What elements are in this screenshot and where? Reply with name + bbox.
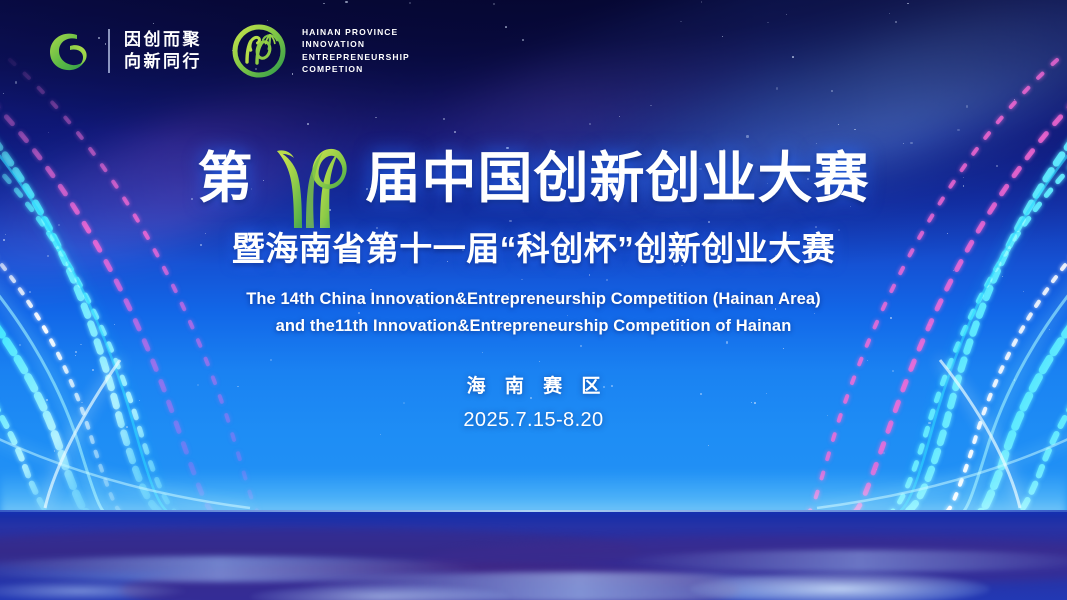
- main-title: 第: [0, 140, 1067, 216]
- competition-poster: 因创而聚 向新同行: [0, 0, 1067, 600]
- c-swoosh-logo-icon: [44, 26, 94, 76]
- region-info: 海 南 赛 区 2025.7.15-8.20: [0, 371, 1067, 432]
- sub-title-english: The 14th China Innovation&Entrepreneursh…: [0, 286, 1067, 339]
- region-date: 2025.7.15-8.20: [0, 409, 1067, 432]
- main-title-suffix: 届中国创新创业大赛: [366, 151, 870, 206]
- title-block: 第: [0, 140, 1067, 339]
- sub-title-chinese: 暨海南省第十一届“科创杯”创新创业大赛: [0, 222, 1067, 270]
- ocean-waves: [0, 510, 1067, 600]
- slogan-line-1: 因创而聚: [124, 31, 202, 49]
- org-line-4: COMPETION: [302, 64, 410, 75]
- main-sponsor-logo[interactable]: 因创而聚 向新同行: [44, 26, 202, 76]
- org-line-2: INNOVATION: [302, 39, 410, 50]
- english-line-1: The 14th China Innovation&Entrepreneursh…: [0, 286, 1067, 313]
- horizon-line: [0, 510, 1067, 512]
- main-title-prefix: 第: [197, 151, 253, 206]
- slogan-line-2: 向新同行: [124, 53, 202, 71]
- organization-name: HAINAN PROVINCE INNOVATION ENTREPRENEURS…: [302, 27, 410, 75]
- region-name: 海 南 赛 区: [0, 371, 1067, 398]
- hainan-competition-logo[interactable]: HAINAN PROVINCE INNOVATION ENTREPRENEURS…: [230, 22, 410, 80]
- org-line-1: HAINAN PROVINCE: [302, 27, 410, 38]
- stylized-14-numeral-icon: [260, 140, 364, 232]
- org-line-3: ENTREPRENEURSHIP: [302, 52, 410, 63]
- logo-divider: [108, 29, 110, 73]
- hainan-ring-emblem-icon: [230, 22, 290, 80]
- english-line-2: and the11th Innovation&Entrepreneurship …: [0, 313, 1067, 340]
- sponsor-slogan: 因创而聚 向新同行: [124, 31, 202, 71]
- header-logos: 因创而聚 向新同行: [44, 22, 410, 80]
